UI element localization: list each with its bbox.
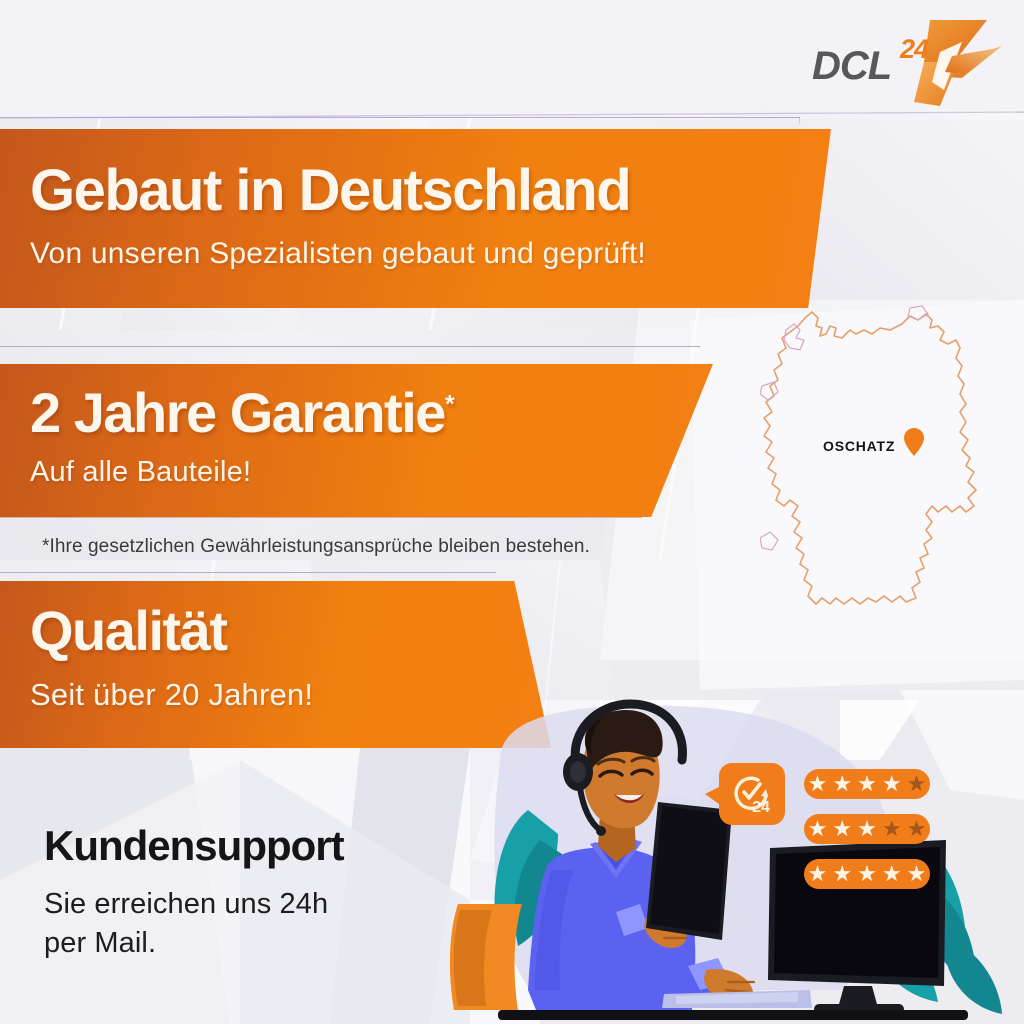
star-filled-icon: ★ [808,773,828,795]
star-filled-icon: ★ [907,863,927,885]
germany-map: OSCHATZ [760,300,1016,650]
banner-heading: 2 Jahre Garantie [30,381,445,444]
rating-bar: ★★★★★ [804,769,930,799]
support-line-2: per Mail. [44,924,344,963]
star-empty-icon: ★ [907,773,927,795]
star-filled-icon: ★ [857,773,877,795]
desk-surface-bar [498,1010,968,1020]
support-heading: Kundensupport [44,825,344,867]
rating-bar: ★★★★★ [804,859,930,889]
star-filled-icon: ★ [808,863,828,885]
star-filled-icon: ★ [882,863,902,885]
svg-text:24: 24 [752,799,770,816]
asterisk-marker: * [445,390,455,418]
germany-outline-icon [760,300,1016,650]
rating-bar: ★★★★★ [804,814,930,844]
banner-2-jahre-garantie: 2 Jahre Garantie* Auf alle Bauteile! [0,364,713,517]
star-empty-icon: ★ [907,818,927,840]
dcl24-logo[interactable]: DCL 24 [812,16,1002,108]
star-empty-icon: ★ [882,818,902,840]
star-filled-icon: ★ [832,773,852,795]
24h-availability-badge: 24 [719,763,785,825]
star-filled-icon: ★ [832,818,852,840]
banner-heading: Qualität [30,598,226,663]
legal-fineprint: *Ihre gesetzlichen Gewährleistungsansprü… [42,536,590,558]
support-agent-illustration [440,690,1024,1024]
illustration-vector [440,690,1024,1024]
star-filled-icon: ★ [882,773,902,795]
banner-heading: Gebaut in Deutschland [30,157,630,224]
support-body: Sie erreichen uns 24h per Mail. [44,885,344,963]
banner-subheading: Seit über 20 Jahren! [30,677,313,713]
banner-subheading: Von unseren Spezialisten gebaut und gepr… [30,237,646,271]
location-pin-icon [904,428,924,456]
star-filled-icon: ★ [832,863,852,885]
city-label-oschatz: OSCHATZ [823,438,895,454]
kundensupport-block: Kundensupport Sie erreichen uns 24h per … [44,825,344,963]
logo-wordmark: DCL [812,44,891,89]
clock-check-24h-icon: 24 [728,771,776,817]
banner-heading-wrap: 2 Jahre Garantie* [30,380,455,445]
banner-subheading: Auf alle Bauteile! [30,456,251,489]
star-filled-icon: ★ [808,818,828,840]
star-filled-icon: ★ [857,818,877,840]
star-filled-icon: ★ [857,863,877,885]
banner-gebaut-in-deutschland: Gebaut in Deutschland Von unseren Spezia… [0,129,831,308]
logo-superscript: 24 [900,34,928,65]
infographic-canvas: DCL 24 Gebaut in Deutschland Von unseren… [0,0,1024,1024]
support-line-1: Sie erreichen uns 24h [44,885,344,924]
